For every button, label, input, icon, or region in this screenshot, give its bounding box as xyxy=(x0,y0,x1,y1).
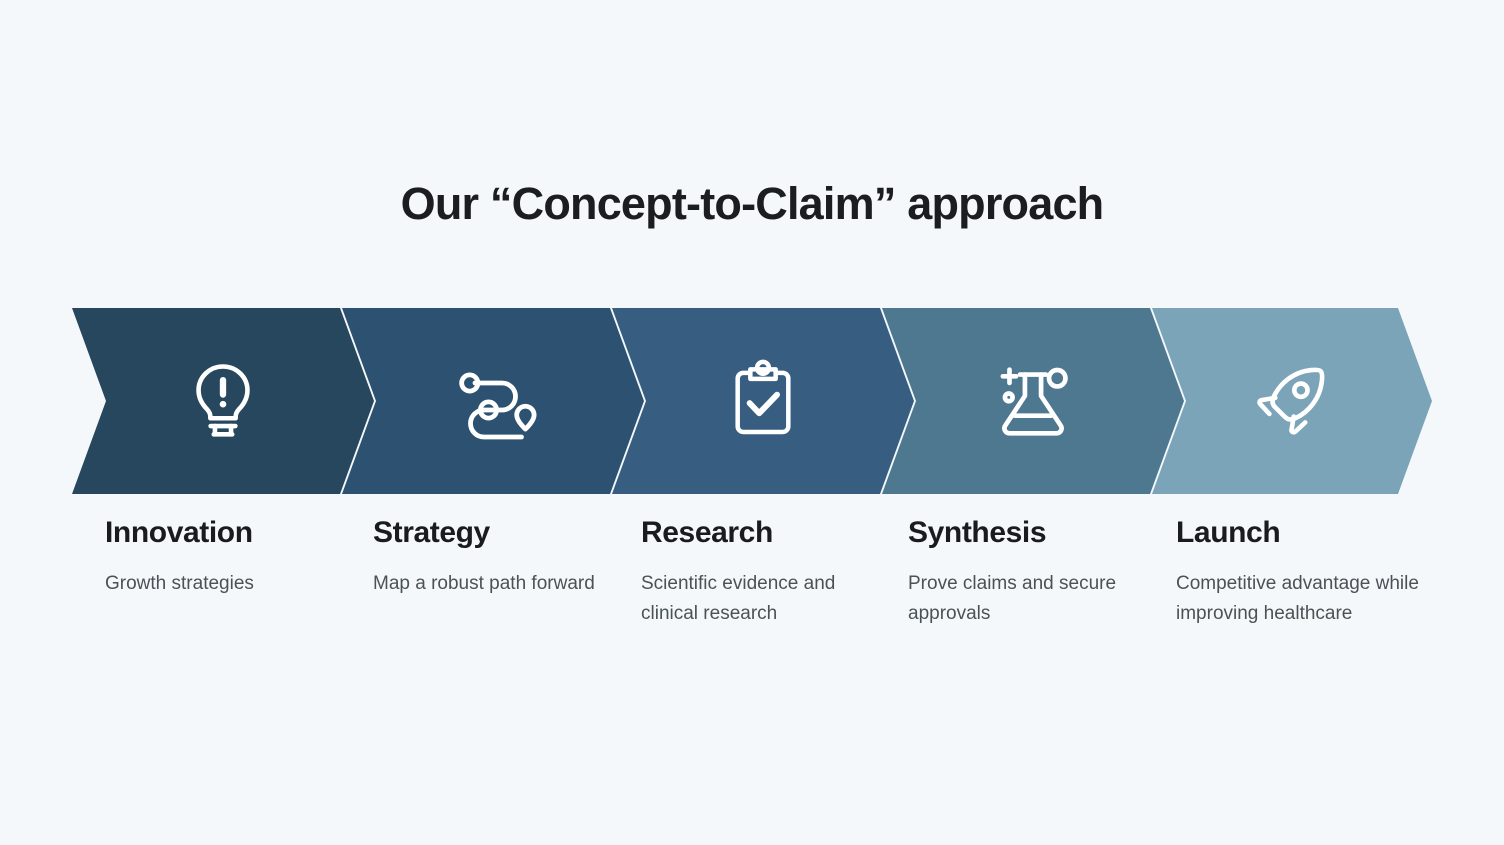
stage-title: Innovation xyxy=(105,516,335,549)
chevron-stage-launch[interactable] xyxy=(1152,308,1432,494)
stage-description: Prove claims and secure approvals xyxy=(908,569,1118,629)
stage-column-strategy: Strategy Map a robust path forward xyxy=(373,516,598,599)
stage-title: Strategy xyxy=(373,516,598,549)
chevron-stage-strategy[interactable] xyxy=(342,308,644,494)
route-path-pin-icon xyxy=(445,353,541,449)
rocket-icon xyxy=(1246,355,1338,447)
stage-description: Competitive advantage while improving he… xyxy=(1176,569,1431,629)
chevron-stage-innovation[interactable] xyxy=(72,308,374,494)
process-chevron-band xyxy=(72,308,1432,494)
stage-labels: Innovation Growth strategies Strategy Ma… xyxy=(0,516,1504,716)
stage-column-research: Research Scientific evidence and clinica… xyxy=(641,516,881,629)
stage-column-launch: Launch Competitive advantage while impro… xyxy=(1176,516,1431,629)
page-title: Our “Concept-to-Claim” approach xyxy=(0,178,1504,230)
chevron-stage-research[interactable] xyxy=(612,308,914,494)
chevron-stage-synthesis[interactable] xyxy=(882,308,1184,494)
stage-description: Map a robust path forward xyxy=(373,569,598,599)
stage-title: Launch xyxy=(1176,516,1431,549)
stage-description: Scientific evidence and clinical researc… xyxy=(641,569,881,629)
clipboard-check-icon xyxy=(718,356,808,446)
stage-column-innovation: Innovation Growth strategies xyxy=(105,516,335,599)
slide-canvas: Our “Concept-to-Claim” approach xyxy=(0,0,1504,845)
lightbulb-exclamation-icon xyxy=(177,355,269,447)
stage-description: Growth strategies xyxy=(105,569,335,599)
stage-title: Research xyxy=(641,516,881,549)
stage-column-synthesis: Synthesis Prove claims and secure approv… xyxy=(908,516,1118,629)
stage-title: Synthesis xyxy=(908,516,1118,549)
lab-flask-icon xyxy=(986,354,1080,448)
